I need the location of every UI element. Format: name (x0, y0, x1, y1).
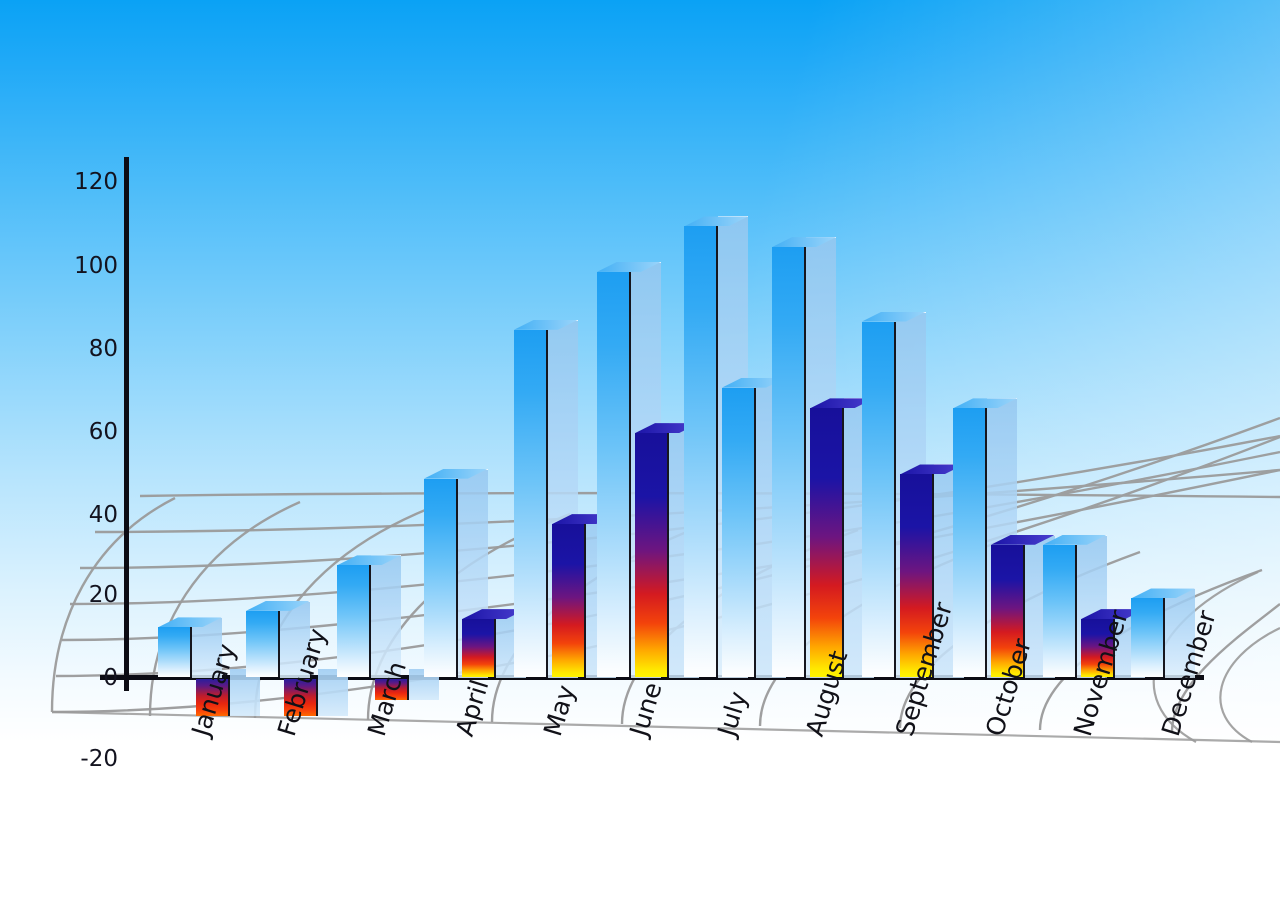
x-label-september: September (890, 599, 958, 740)
x-label-february: February (272, 625, 332, 739)
x-label-november: November (1068, 607, 1134, 740)
x-label-march: March (362, 658, 412, 739)
x-label-june: June (624, 679, 668, 740)
x-label-april: April (450, 676, 494, 739)
x-label-may: May (538, 682, 581, 740)
chart-canvas: 120 100 80 60 40 20 0 -20 JanuaryFebruar… (0, 0, 1280, 905)
x-label-january: January (186, 640, 241, 739)
x-label-december: December (1156, 607, 1222, 739)
x-axis-month-labels: JanuaryFebruaryMarchAprilMayJuneJulyAugu… (0, 0, 1280, 905)
x-label-july: July (712, 688, 753, 739)
x-label-october: October (980, 635, 1037, 739)
x-label-august: August (800, 647, 853, 739)
